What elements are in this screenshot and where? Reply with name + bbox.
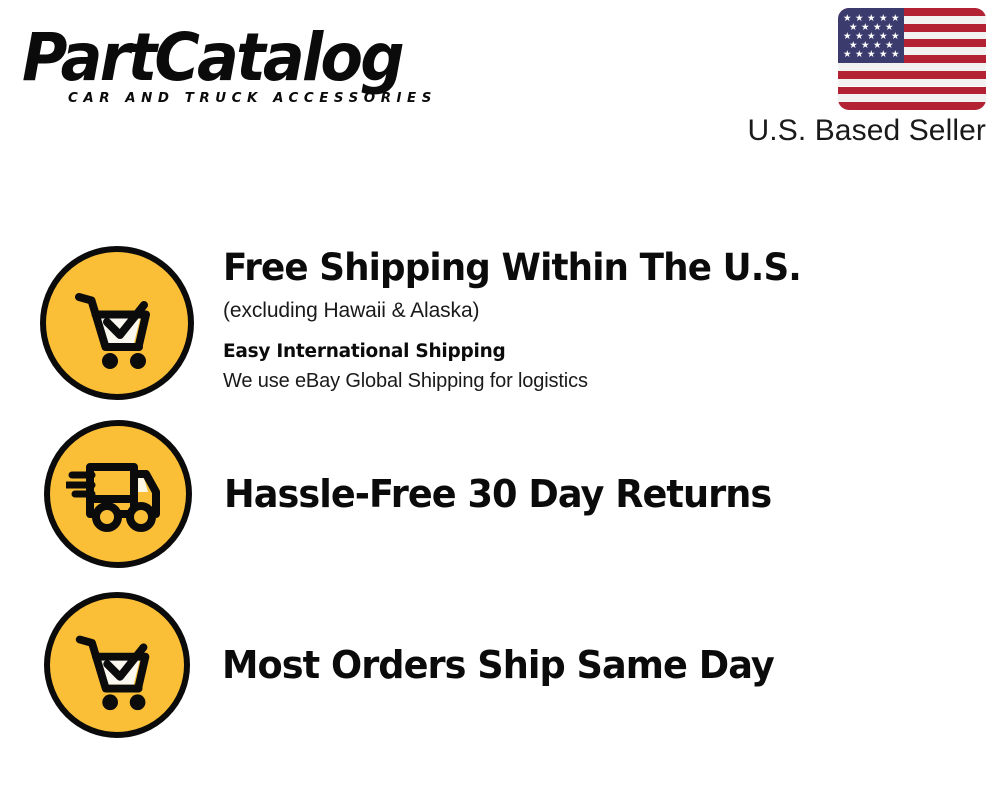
us-based-seller-badge: ★ ★ ★ ★ ★ ★ ★ ★ ★ ★ ★ ★ ★ ★ ★ ★ ★ ★ ★ ★ — [714, 8, 986, 158]
flag-star-icon: ★ — [855, 50, 864, 60]
flag-canton: ★ ★ ★ ★ ★ ★ ★ ★ ★ ★ ★ ★ ★ ★ ★ ★ ★ ★ ★ ★ — [838, 8, 904, 63]
flag-stripe — [838, 94, 986, 102]
flag-stripe — [838, 79, 986, 87]
feature-row-same-day-ship: Most Orders Ship Same Day — [44, 592, 964, 738]
flag-star-icon: ★ — [891, 50, 900, 60]
flag-stripe — [838, 71, 986, 79]
delivery-truck-icon — [44, 420, 192, 568]
us-flag-icon: ★ ★ ★ ★ ★ ★ ★ ★ ★ ★ ★ ★ ★ ★ ★ ★ ★ ★ ★ ★ — [838, 8, 986, 110]
feature-title: Most Orders Ship Same Day — [222, 643, 938, 688]
feature-row-returns: Hassle-Free 30 Day Returns — [44, 420, 964, 568]
brand-logo: PartCatalog CAR AND TRUCK ACCESSORIES — [22, 18, 492, 114]
flag-star-icon: ★ — [879, 50, 888, 60]
promotional-banner: PartCatalog CAR AND TRUCK ACCESSORIES ★ … — [0, 0, 1000, 800]
brand-tagline: CAR AND TRUCK ACCESSORIES — [68, 90, 437, 106]
feature-extra-subtitle: We use eBay Global Shipping for logistic… — [223, 367, 960, 395]
feature-row-free-shipping: Free Shipping Within The U.S. (excluding… — [40, 245, 960, 401]
feature-text-block: Hassle-Free 30 Day Returns — [192, 472, 964, 517]
shopping-cart-check-icon — [40, 246, 194, 400]
feature-subtitle: (excluding Hawaii & Alaska) — [223, 296, 960, 326]
feature-text-block: Free Shipping Within The U.S. (excluding… — [194, 245, 960, 401]
flag-star-icon: ★ — [867, 50, 876, 60]
feature-title: Free Shipping Within The U.S. — [223, 245, 934, 290]
feature-text-block: Most Orders Ship Same Day — [190, 643, 964, 688]
feature-title: Hassle-Free 30 Day Returns — [224, 472, 938, 517]
us-based-seller-label: U.S. Based Seller — [748, 114, 986, 148]
flag-star-icon: ★ — [843, 50, 852, 60]
flag-stripe — [838, 102, 986, 110]
feature-extra-title: Easy International Shipping — [223, 340, 960, 364]
flag-stripe — [838, 63, 986, 71]
brand-wordmark: PartCatalog — [22, 18, 402, 98]
flag-stripe — [838, 87, 986, 95]
shopping-cart-check-icon — [44, 592, 190, 738]
